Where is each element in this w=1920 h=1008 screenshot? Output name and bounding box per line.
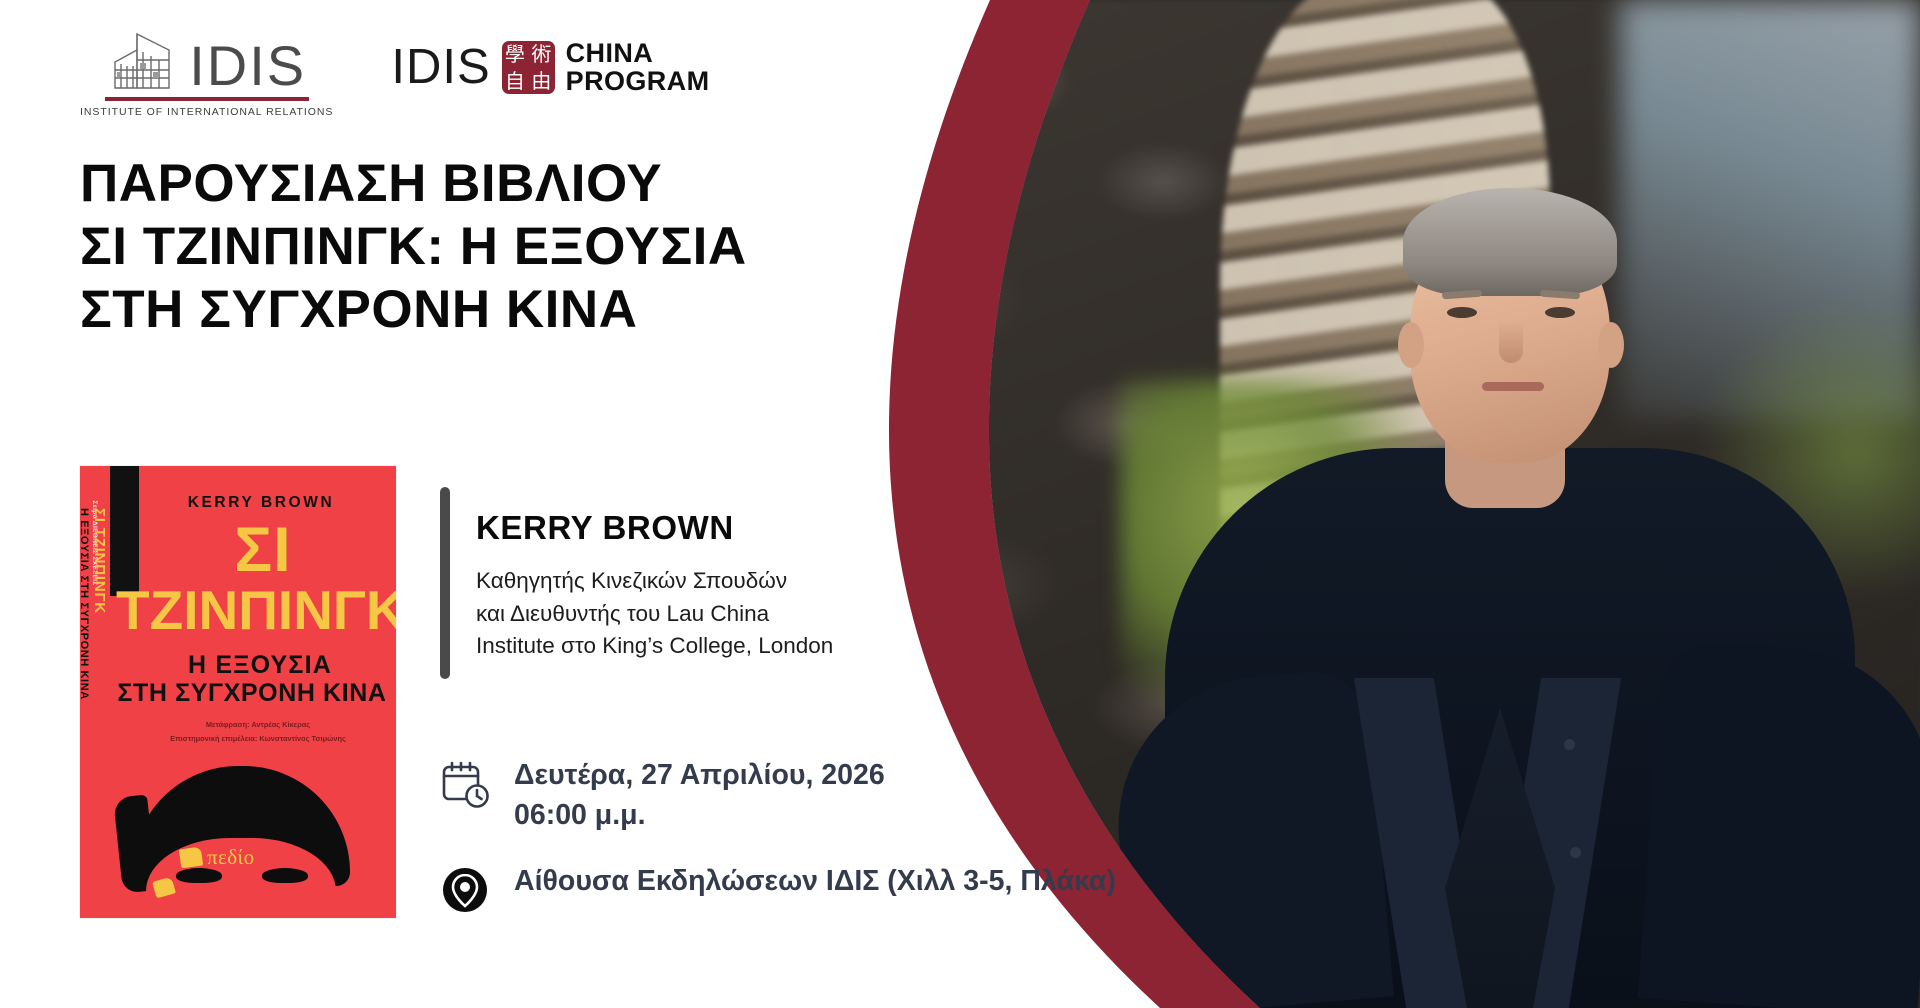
headline-line-3: ΣΤΗ ΣΥΓΧΡΟΝΗ ΚΙΝΑ — [80, 278, 1020, 341]
headline-line-2: ΣΙ ΤΖΙΝΠΙΝΓΚ: Η ΕΞΟΥΣΙΑ — [80, 215, 1020, 278]
book-cover-title-line2: ΤΖΙΝΠΙΝΓΚ — [80, 578, 396, 642]
location-pin-icon — [438, 862, 492, 915]
china-program-logo: IDIS 學 術 自 由 CHINA PROGRAM — [391, 30, 709, 95]
poster-headline: ΠΑΡΟΥΣΙΑΣΗ ΒΙΒΛΙΟΥ ΣΙ ΤΖΙΝΠΙΝΓΚ: Η ΕΞΟΥΣ… — [80, 152, 1020, 341]
book-cover-author: KERRY BROWN — [80, 494, 396, 512]
book-cover-subtitle-line2: ΣΤΗ ΣΥΓΧΡΟΝΗ ΚΙΝΑ — [80, 679, 396, 708]
idis-wordmark: IDIS — [189, 39, 306, 92]
book-cover-title-line1: ΣΙ — [80, 514, 396, 586]
book-cover-subtitle-line1: Η ΕΞΟΥΣΙΑ — [80, 651, 396, 680]
book-cover-credit-translator: Μετάφραση: Αντρέας Κίκερας — [80, 720, 396, 729]
headline-line-1: ΠΑΡΟΥΣΙΑΣΗ ΒΙΒΛΙΟΥ — [80, 152, 1020, 215]
event-poster: IDIS INSTITUTE OF INTERNATIONAL RELATION… — [0, 0, 1920, 1008]
seal-char-2: 術 — [531, 44, 551, 64]
logo-row: IDIS INSTITUTE OF INTERNATIONAL RELATION… — [80, 30, 709, 118]
book-cover-image: Σειρά ΔΙΕΘΝΕΙΣ ΣΧΕΣΕΙΣ Η ΕΞΟΥΣΙΑ ΣΤΗ ΣΥΓ… — [80, 466, 396, 918]
speaker-bio-line-1: Καθηγητής Κινεζικών Σπουδών — [476, 565, 833, 598]
speaker-bio-line-2: και Διευθυντής του Lau China — [476, 598, 833, 631]
book-cover-credit-editor: Επιστημονική επιμέλεια: Κωνσταντίνος Τσι… — [80, 734, 396, 743]
speaker-name: KERRY BROWN — [476, 509, 833, 547]
event-location-row: Αίθουσα Εκδηλώσεων ΙΔΙΣ (Χιλλ 3-5, Πλάκα… — [438, 862, 1116, 915]
event-date: Δευτέρα, 27 Απριλίου, 2026 — [514, 756, 885, 796]
speaker-bio-line-3: Institute στο King’s College, London — [476, 630, 833, 663]
idis-tagline: INSTITUTE OF INTERNATIONAL RELATIONS — [80, 106, 333, 118]
seal-char-1: 學 — [505, 44, 525, 64]
calendar-clock-icon — [438, 756, 492, 809]
book-cover-portrait-eye-left — [176, 868, 222, 883]
speaker-block: KERRY BROWN Καθηγητής Κινεζικών Σπουδών … — [440, 487, 833, 679]
event-location: Αίθουσα Εκδηλώσεων ΙΔΙΣ (Χιλλ 3-5, Πλάκα… — [514, 862, 1116, 902]
seal-char-3: 自 — [505, 71, 525, 91]
event-datetime-row: Δευτέρα, 27 Απριλίου, 2026 06:00 μ.μ. — [438, 756, 1116, 836]
publisher-logo: πεδίο — [180, 845, 254, 870]
poster-content: IDIS INSTITUTE OF INTERNATIONAL RELATION… — [0, 0, 1060, 1008]
idis-divider — [105, 97, 309, 101]
book-cover-portrait-eye-right — [262, 868, 308, 883]
event-time: 06:00 μ.μ. — [514, 796, 885, 836]
publisher-mark-icon — [179, 847, 203, 869]
speaker-bio: Καθηγητής Κινεζικών Σπουδών και Διευθυντ… — [476, 565, 833, 663]
publisher-name: πεδίο — [207, 845, 254, 870]
china-program-idis-wordmark: IDIS — [391, 43, 490, 92]
event-details: Δευτέρα, 27 Απριλίου, 2026 06:00 μ.μ. Αί… — [438, 756, 1116, 915]
academic-freedom-seal-icon: 學 術 自 由 — [502, 41, 555, 94]
idis-logo: IDIS INSTITUTE OF INTERNATIONAL RELATION… — [80, 30, 333, 118]
china-program-line1: CHINA — [566, 40, 710, 68]
portrait-figure — [1090, 0, 1920, 1008]
institute-building-icon — [107, 30, 179, 92]
speaker-accent-bar — [440, 487, 450, 679]
seal-char-4: 由 — [531, 71, 551, 91]
china-program-line2: PROGRAM — [566, 68, 710, 96]
